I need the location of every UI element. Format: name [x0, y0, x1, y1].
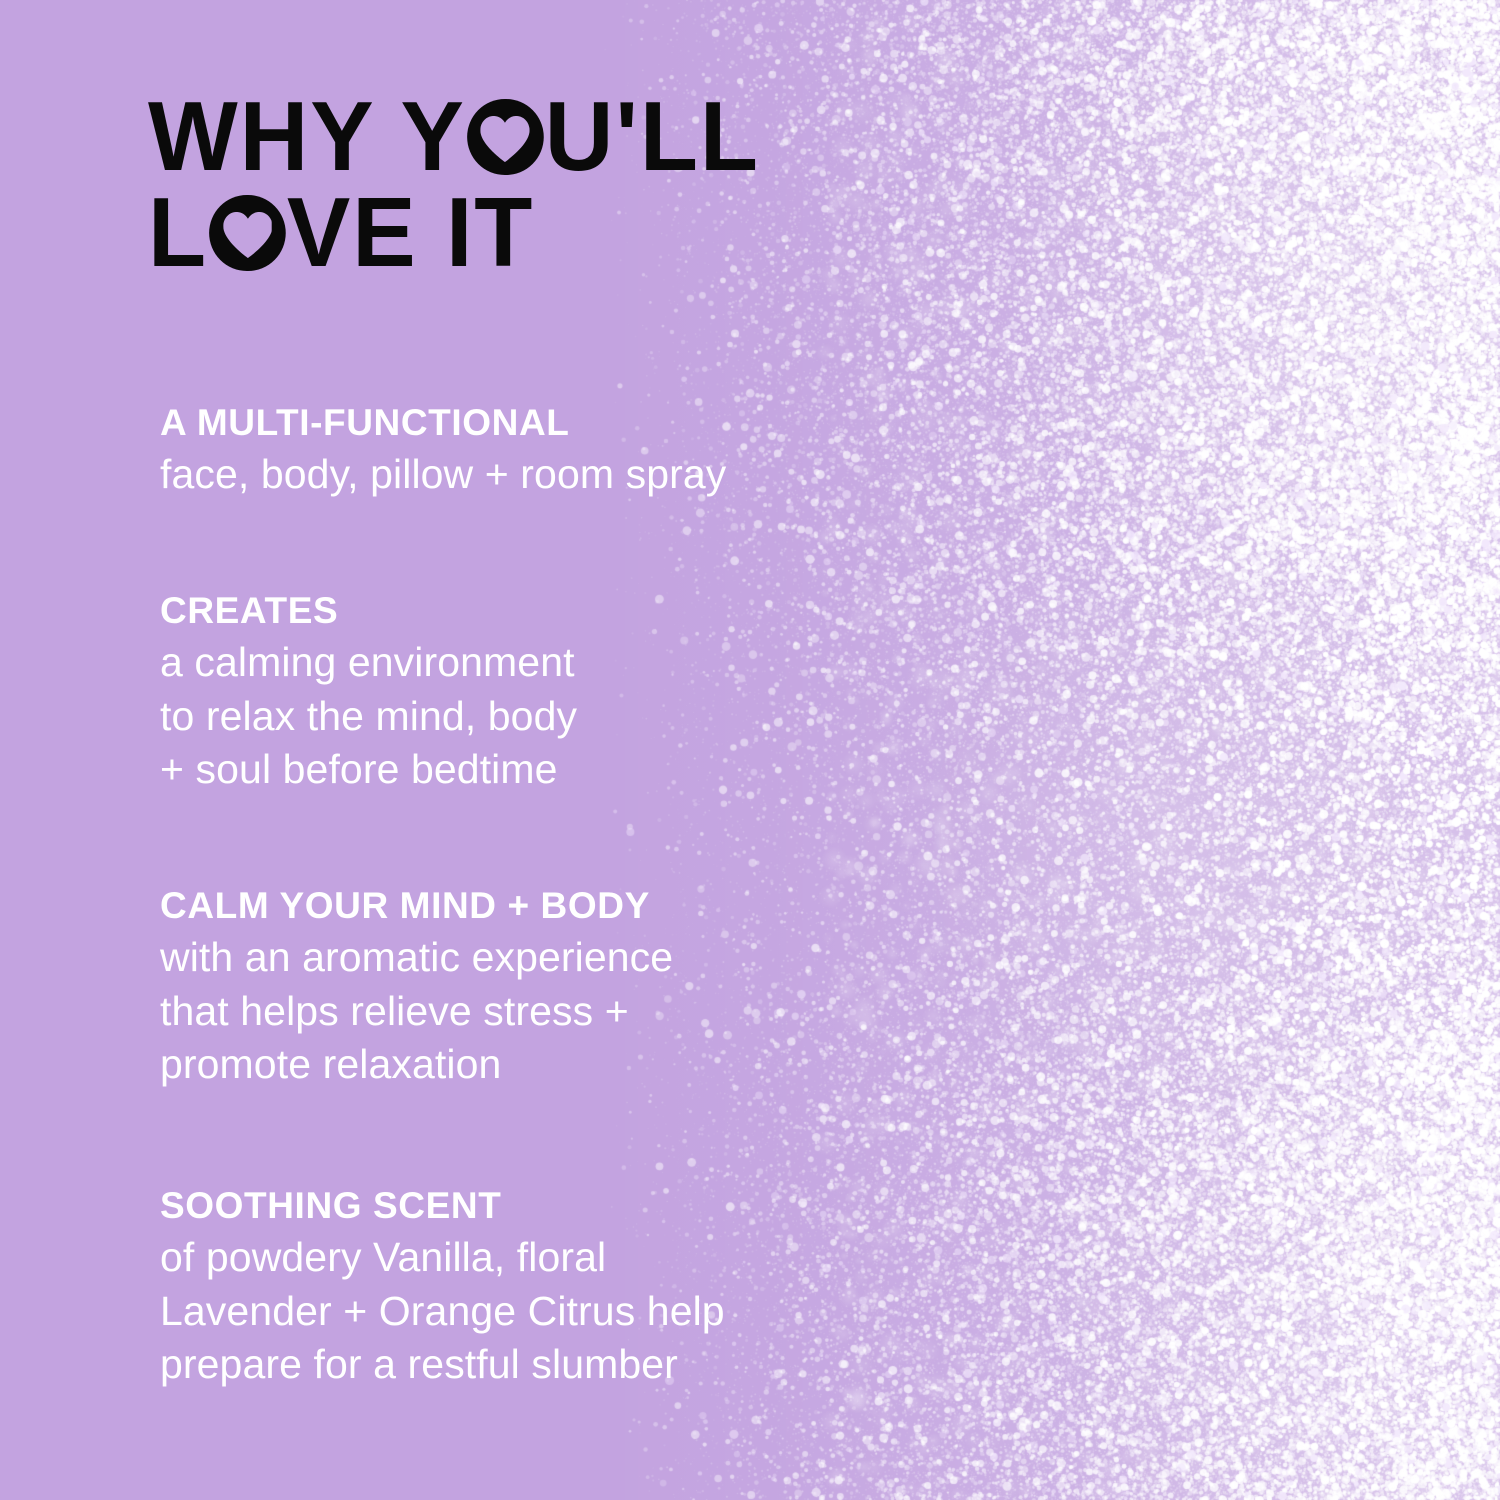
- section-body: face, body, pillow + room spray: [160, 448, 940, 501]
- heart-cutout-icon: [223, 212, 272, 258]
- infographic-content: WHY YU'LL LVE IT A MULTI-FUNCTIONAL face…: [0, 0, 1500, 1500]
- heart-o-icon: [467, 99, 543, 175]
- body-line: promote relaxation: [160, 1038, 940, 1091]
- page-title: WHY YU'LL LVE IT: [148, 88, 968, 280]
- section-label: A MULTI-FUNCTIONAL: [160, 402, 940, 443]
- body-line: + soul before bedtime: [160, 743, 940, 796]
- body-line: with an aromatic experience: [160, 931, 940, 984]
- section-label: SOOTHING SCENT: [160, 1185, 940, 1226]
- section-label: CALM YOUR MIND + BODY: [160, 885, 940, 926]
- body-line: face, body, pillow + room spray: [160, 448, 940, 501]
- body-line: Lavender + Orange Citrus help: [160, 1285, 940, 1338]
- body-line: prepare for a restful slumber: [160, 1338, 940, 1391]
- body-line: of powdery Vanilla, floral: [160, 1231, 940, 1284]
- section-label: CREATES: [160, 590, 940, 631]
- section-body: with an aromatic experience that helps r…: [160, 931, 940, 1091]
- body-line: to relax the mind, body: [160, 690, 940, 743]
- heart-o-icon: [209, 195, 285, 271]
- section-body: a calming environment to relax the mind,…: [160, 636, 940, 796]
- body-line: that helps relieve stress +: [160, 985, 940, 1038]
- title-line-2-post: VE IT: [287, 177, 534, 287]
- body-line: a calming environment: [160, 636, 940, 689]
- section-body: of powdery Vanilla, floral Lavender + Or…: [160, 1231, 940, 1391]
- title-line-2: LVE IT: [148, 184, 943, 280]
- title-line-1-pre: WHY Y: [148, 81, 466, 191]
- title-line-1-post: U'LL: [545, 81, 760, 191]
- title-line-1: WHY YU'LL: [148, 88, 943, 184]
- benefit-section-soothing-scent: SOOTHING SCENT of powdery Vanilla, flora…: [160, 1185, 940, 1391]
- benefit-section-creates: CREATES a calming environment to relax t…: [160, 590, 940, 796]
- title-line-2-pre: L: [148, 177, 208, 287]
- benefit-section-multi-functional: A MULTI-FUNCTIONAL face, body, pillow + …: [160, 402, 940, 502]
- benefit-section-calm-mind-body: CALM YOUR MIND + BODY with an aromatic e…: [160, 885, 940, 1091]
- heart-cutout-icon: [481, 116, 530, 162]
